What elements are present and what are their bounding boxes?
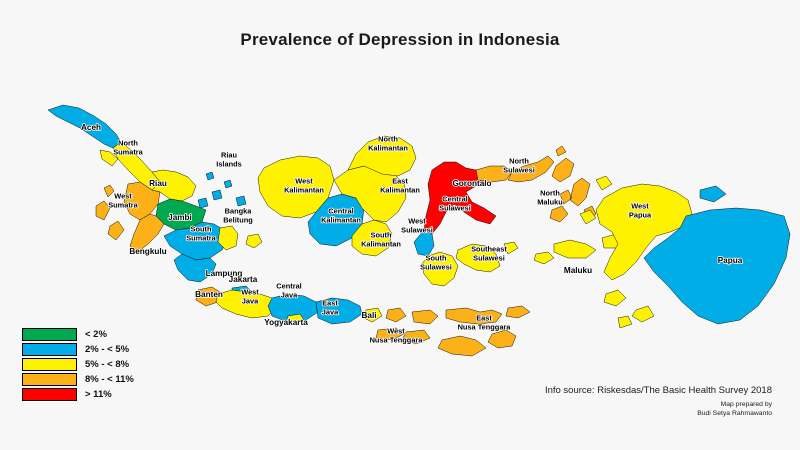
legend-swatch-2: [22, 358, 77, 371]
region-label: NorthSumatra: [113, 139, 143, 157]
region-label: WestJava: [241, 288, 259, 306]
region-label: WestPapua: [629, 202, 652, 220]
region-label: RiauIslands: [216, 151, 241, 169]
legend-item: < 2%: [22, 328, 134, 341]
region-label: NorthKalimantan: [368, 135, 408, 153]
legend-swatch-1: [22, 343, 77, 356]
region-label: BangkaBelitung: [223, 207, 253, 225]
legend-swatch-3: [22, 373, 77, 386]
legend-item: 5% - < 8%: [22, 358, 134, 371]
region-label: WestNusa Tenggara: [370, 327, 424, 345]
map-figure: Prevalence of Depression in Indonesia: [0, 0, 800, 450]
region-riau-islands[interactable]: [198, 172, 246, 208]
region-label: Jakarta: [229, 275, 258, 284]
region-label: EastJava: [322, 299, 339, 317]
prepared-by-line-1: Map prepared by: [697, 400, 772, 409]
region-label: Gorontalo: [452, 179, 491, 188]
prepared-by-line-2: Budi Setya Rahmawanto: [697, 409, 772, 418]
region-label: Aceh: [81, 123, 101, 132]
region-bangka-belitung[interactable]: [218, 226, 262, 250]
region-label: Maluku: [564, 266, 592, 275]
legend-swatch-0: [22, 328, 77, 341]
region-label: Riau: [149, 179, 167, 188]
region-label: SoutheastSulawesi: [471, 245, 507, 263]
legend-item: 8% - < 11%: [22, 373, 134, 386]
region-label: Yogyakarta: [264, 318, 308, 327]
region-label: Papua: [718, 256, 743, 265]
region-label: Bengkulu: [129, 247, 166, 256]
region-label: Banten: [195, 290, 223, 299]
legend-item: > 11%: [22, 388, 134, 401]
legend-label-4: > 11%: [85, 388, 112, 401]
legend-item: 2% - < 5%: [22, 343, 134, 356]
legend-swatch-4: [22, 388, 77, 401]
region-label: Bali: [361, 311, 376, 320]
page-title: Prevalence of Depression in Indonesia: [0, 30, 800, 50]
region-label: CentralSulawesi: [439, 195, 471, 213]
region-label: NorthSulawesi: [503, 157, 535, 175]
legend-label-3: 8% - < 11%: [85, 373, 134, 386]
region-label: NorthMaluku: [537, 189, 563, 207]
source-note: Info source: Riskesdas/The Basic Health …: [545, 385, 772, 396]
legend-label-0: < 2%: [85, 328, 107, 341]
legend-label-1: 2% - < 5%: [85, 343, 129, 356]
prepared-by-note: Map prepared by Budi Setya Rahmawanto: [697, 400, 772, 418]
legend: < 2% 2% - < 5% 5% - < 8% 8% - < 11% > 11…: [22, 328, 134, 401]
legend-label-2: 5% - < 8%: [85, 358, 129, 371]
region-label: Jambi: [168, 213, 192, 222]
